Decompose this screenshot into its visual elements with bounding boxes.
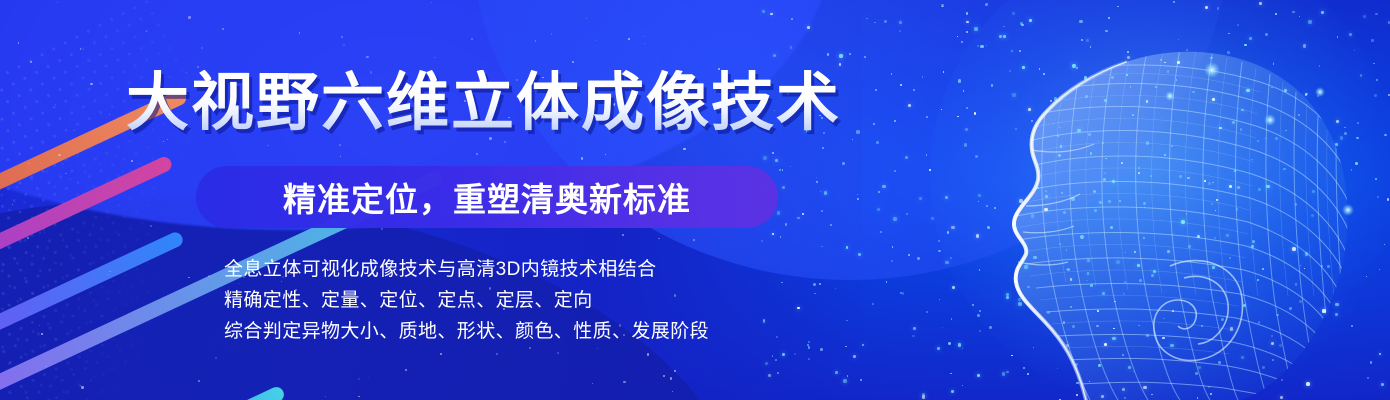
description-line-3: 综合判定异物大小、质地、形状、颜色、性质、发展阶段 — [224, 316, 709, 347]
banner-subtitle: 精准定位，重塑清奥新标准 — [196, 166, 778, 228]
description-line-2: 精确定性、定量、定位、定点、定层、定向 — [224, 285, 709, 316]
wireframe-head-icon — [840, 0, 1390, 400]
banner-title: 大视野六维立体成像技术 — [126, 70, 841, 136]
description-line-1: 全息立体可视化成像技术与高清3D内镜技术相结合 — [224, 254, 709, 285]
banner-content: 大视野六维立体成像技术 精准定位，重塑清奥新标准 全息立体可视化成像技术与高清3… — [0, 0, 860, 400]
wireframe-head-graphic — [840, 0, 1390, 400]
hero-banner: 大视野六维立体成像技术 精准定位，重塑清奥新标准 全息立体可视化成像技术与高清3… — [0, 0, 1390, 400]
banner-description: 全息立体可视化成像技术与高清3D内镜技术相结合 精确定性、定量、定位、定点、定层… — [224, 254, 709, 347]
